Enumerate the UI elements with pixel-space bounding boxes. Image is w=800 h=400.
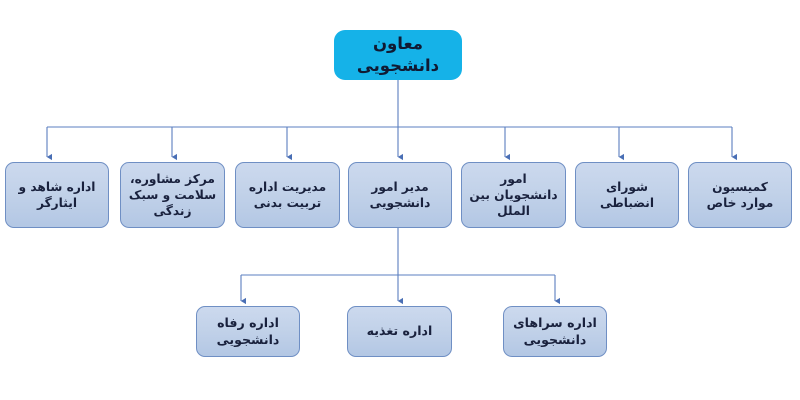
node-label: اداره سراهای دانشجویی: [504, 315, 606, 348]
node-level2-5[interactable]: امور دانشجویان بین الملل: [461, 162, 566, 228]
org-chart-canvas: معاون دانشجویی اداره شاهد و ایثارگر مرکز…: [0, 0, 800, 400]
node-label: کمیسیون موارد خاص: [689, 179, 791, 211]
node-level3-2[interactable]: اداره تغذیه: [347, 306, 452, 357]
node-level2-1[interactable]: اداره شاهد و ایثارگر: [5, 162, 109, 228]
node-level3-1[interactable]: اداره رفاه دانشجویی: [196, 306, 300, 357]
node-label: مدیریت اداره تربیت بدنی: [236, 179, 339, 211]
node-level2-7[interactable]: کمیسیون موارد خاص: [688, 162, 792, 228]
node-level2-6[interactable]: شورای انضباطی: [575, 162, 679, 228]
node-root-deputy-of-student-affairs[interactable]: معاون دانشجویی: [334, 30, 462, 80]
node-label: معاون دانشجویی: [334, 33, 462, 77]
node-label: شورای انضباطی: [576, 179, 678, 211]
node-label: اداره رفاه دانشجویی: [197, 315, 299, 348]
node-label: مرکز مشاوره، سلامت و سبک زندگی: [121, 171, 224, 219]
node-label: اداره شاهد و ایثارگر: [6, 179, 108, 211]
node-level2-4[interactable]: مدیر امور دانشجویی: [348, 162, 452, 228]
node-level2-2[interactable]: مرکز مشاوره، سلامت و سبک زندگی: [120, 162, 225, 228]
node-level3-3[interactable]: اداره سراهای دانشجویی: [503, 306, 607, 357]
node-label: مدیر امور دانشجویی: [349, 179, 451, 211]
node-label: اداره تغذیه: [348, 323, 451, 340]
node-level2-3[interactable]: مدیریت اداره تربیت بدنی: [235, 162, 340, 228]
node-label: امور دانشجویان بین الملل: [462, 171, 565, 219]
